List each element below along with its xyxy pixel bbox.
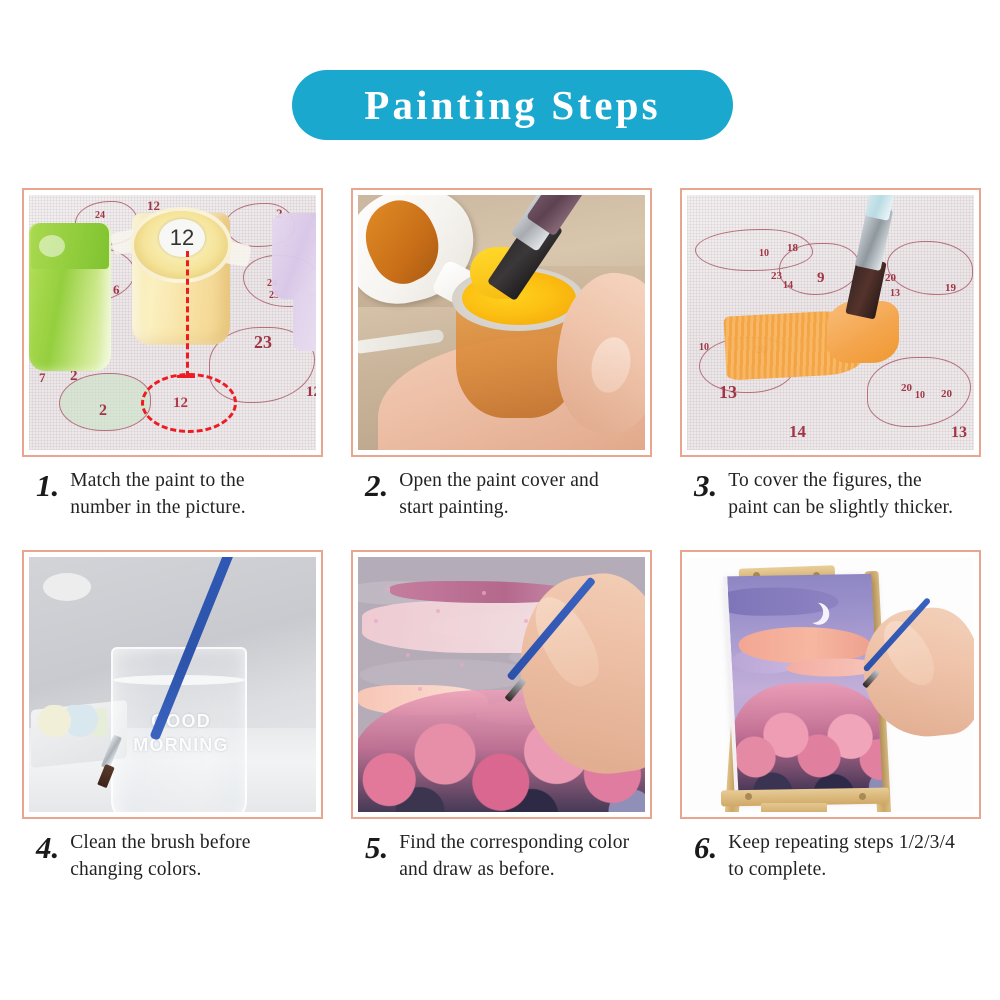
step-2-photo-frame xyxy=(351,188,652,457)
canvas-number: 18 xyxy=(787,243,798,254)
glass-text-line-2: MORNING xyxy=(133,733,229,757)
step-4-text: Clean the brush before changing colors. xyxy=(70,830,302,883)
step-card-2: 2. Open the paint cover and start painti… xyxy=(351,188,652,521)
region-dot xyxy=(386,587,390,591)
title-banner: Painting Steps xyxy=(292,70,733,140)
canvas-number: 24 xyxy=(95,211,105,221)
step-5-text: Find the corresponding color and draw as… xyxy=(399,830,631,883)
canvas-number: 10 xyxy=(915,391,925,401)
paint-pot-purple xyxy=(272,213,316,299)
blurred-background-object xyxy=(43,573,91,601)
step-3-number: 3. xyxy=(694,468,717,501)
step-1-text: Match the paint to the number in the pic… xyxy=(70,468,302,521)
step-card-4: GOOD MORNING 4. Clean the brush before c… xyxy=(22,550,323,883)
step-card-6: 6. Keep repeating steps 1/2/3/4 to compl… xyxy=(680,550,981,883)
step-6-caption: 6. Keep repeating steps 1/2/3/4 to compl… xyxy=(680,830,981,883)
canvas-number: 14 xyxy=(789,423,806,440)
finished-painting-on-easel-image xyxy=(687,557,974,812)
step-6-number: 6. xyxy=(694,830,717,863)
canvas-number: 23 xyxy=(254,333,272,351)
step-5-caption: 5. Find the corresponding color and draw… xyxy=(351,830,652,883)
easel-screw xyxy=(745,793,752,800)
step-4-number: 4. xyxy=(36,830,59,863)
region-dot xyxy=(460,663,464,667)
canvas-number: 6 xyxy=(113,283,120,296)
paint-pot-purple-secondary xyxy=(293,291,316,351)
canvas-number: 13 xyxy=(719,383,737,401)
circled-canvas-number: 12 xyxy=(173,395,188,412)
canvas-number: 14 xyxy=(783,281,793,291)
canvas-number: 9 xyxy=(817,271,825,286)
step-5-photo-frame xyxy=(351,550,652,819)
step-6-photo-frame xyxy=(680,550,981,819)
step-5-number: 5. xyxy=(365,830,388,863)
region-dot xyxy=(436,609,440,613)
step-3-text: To cover the figures, the paint can be s… xyxy=(728,468,960,521)
step-card-5: 5. Find the corresponding color and draw… xyxy=(351,550,652,883)
steps-grid: 12 2 24 7 6 5 12 2 7 2 23 24 25 12 xyxy=(22,188,982,883)
annotation-dashed-ellipse xyxy=(141,373,237,433)
step-3-caption: 3. To cover the figures, the paint can b… xyxy=(680,468,981,521)
annotation-dashed-line xyxy=(186,251,189,377)
region-dot xyxy=(406,653,410,657)
step-4-photo-frame: GOOD MORNING xyxy=(22,550,323,819)
canvas-number: 10 xyxy=(759,249,769,259)
step-1-photo-frame: 12 2 24 7 6 5 12 2 7 2 23 24 25 12 xyxy=(22,188,323,457)
canvas-number: 20 xyxy=(885,273,896,284)
canvas-number: 13 xyxy=(890,289,900,299)
blurred-eggs xyxy=(37,705,107,737)
brush-painting-orange-on-canvas-image: 10 18 23 14 9 20 19 13 20 10 13 14 20 10… xyxy=(687,195,974,450)
region-dot xyxy=(374,619,378,623)
glass-printed-text: GOOD MORNING xyxy=(133,709,229,758)
canvas-number: 2 xyxy=(70,369,78,384)
hand-holding-open-paint-pot-image xyxy=(358,195,645,450)
easel-shelf-block xyxy=(761,803,827,812)
canvas-number: 7 xyxy=(39,371,46,384)
step-card-1: 12 2 24 7 6 5 12 2 7 2 23 24 25 12 xyxy=(22,188,323,521)
step-4-caption: 4. Clean the brush before changing color… xyxy=(22,830,323,883)
glass-text-line-1: GOOD xyxy=(133,709,229,733)
canvas-number: 20 xyxy=(941,389,952,400)
canvas-number: 19 xyxy=(945,283,956,294)
canvas-number: 2 xyxy=(99,403,107,419)
step-6-text: Keep repeating steps 1/2/3/4 to complete… xyxy=(728,830,960,883)
canvas-number: 12 xyxy=(306,385,316,400)
canvas-number: 13 xyxy=(951,425,967,441)
region-dot xyxy=(418,687,422,691)
step-2-caption: 2. Open the paint cover and start painti… xyxy=(351,468,652,521)
paint-pot-green-highlight xyxy=(39,235,65,257)
step-1-number: 1. xyxy=(36,468,59,501)
easel-screw xyxy=(859,793,866,800)
paint-pot-number-label: 12 xyxy=(159,219,205,257)
painting-steps-infographic: Painting Steps 12 2 24 7 xyxy=(0,0,1000,1000)
step-card-3: 10 18 23 14 9 20 19 13 20 10 13 14 20 10… xyxy=(680,188,981,521)
page-title: Painting Steps xyxy=(364,85,661,126)
step-3-photo-frame: 10 18 23 14 9 20 19 13 20 10 13 14 20 10… xyxy=(680,188,981,457)
partially-painted-blossom-canvas-image xyxy=(358,557,645,812)
region-dot xyxy=(482,591,486,595)
finished-painting-canvas xyxy=(723,574,883,798)
crescent-moon-icon xyxy=(801,601,824,623)
brush-in-water-glass-image: GOOD MORNING xyxy=(29,557,316,812)
step-2-number: 2. xyxy=(365,468,388,501)
canvas-number: 20 xyxy=(901,383,912,394)
step-1-caption: 1. Match the paint to the number in the … xyxy=(22,468,323,521)
painting-cherry-blossoms xyxy=(729,682,883,799)
canvas-number: 23 xyxy=(771,271,782,282)
canvas-number: 10 xyxy=(699,343,709,353)
paint-pot-on-numbered-canvas-image: 12 2 24 7 6 5 12 2 7 2 23 24 25 12 xyxy=(29,195,316,450)
step-2-text: Open the paint cover and start painting. xyxy=(399,468,631,521)
